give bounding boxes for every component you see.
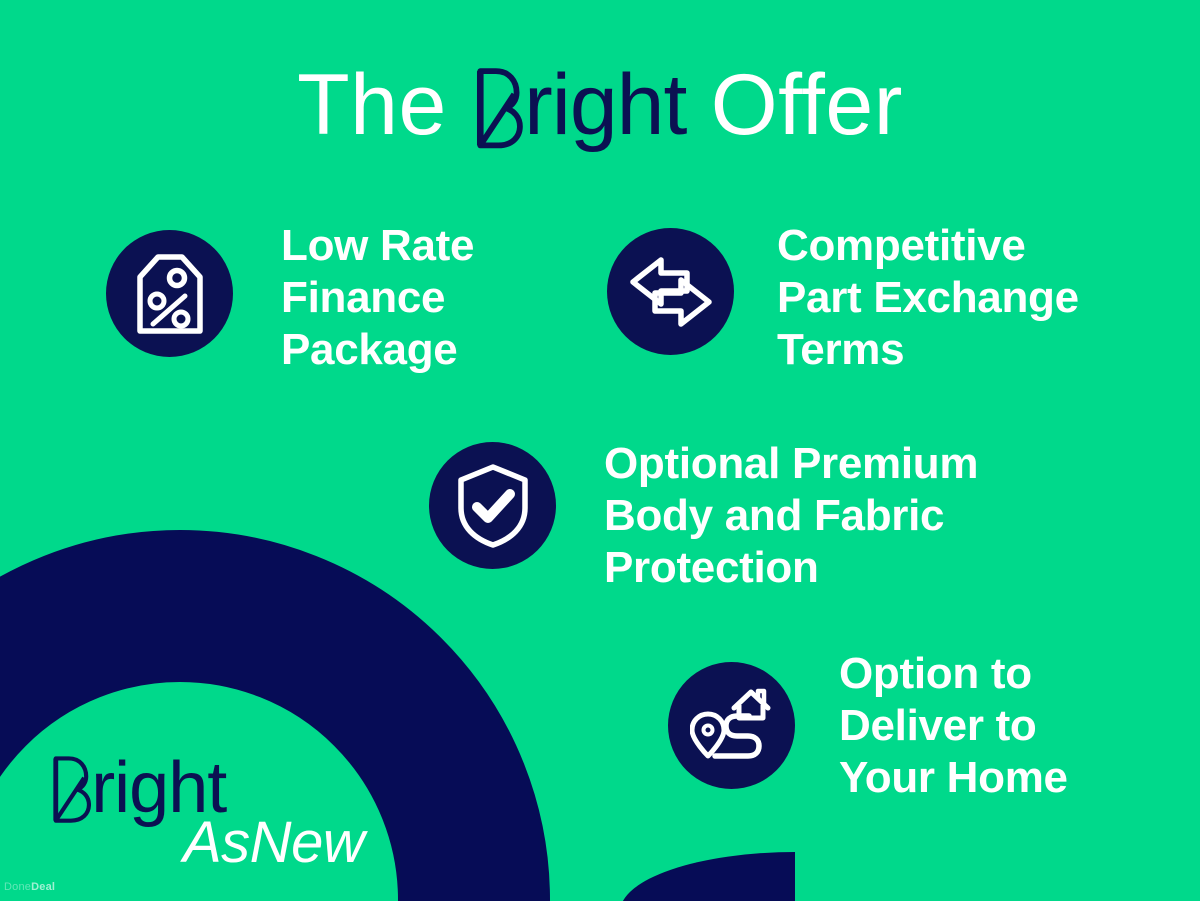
bright-b-logo-icon [471,67,523,150]
donedeal-watermark: DoneDeal [4,882,55,893]
feature-label: Option to Deliver to Your Home [839,648,1068,804]
watermark-done: Done [4,881,31,893]
feature-label: Low Rate Finance Package [281,220,474,376]
title-brand-text: right [524,57,686,153]
page-title: The right Offer [0,62,1200,149]
logo-tagline: AsNew [183,814,364,872]
shield-check-icon [429,442,556,569]
title-prefix: The [297,57,471,153]
title-brand: right [471,57,686,153]
title-suffix: Offer [686,57,903,153]
feature-label: Optional Premium Body and Fabric Protect… [604,438,978,594]
map-pin-route-home-icon [668,662,795,789]
exchange-arrows-icon [607,228,734,355]
decorative-wedge-shape [620,852,795,901]
brand-logo[interactable]: right AsNew [48,752,378,882]
feature-label: Competitive Part Exchange Terms [777,220,1079,376]
offer-slide: The right Offer Low Rate Finance Package… [0,0,1200,901]
feature-item-part-exchange[interactable]: Competitive Part Exchange Terms [607,228,1079,376]
price-tag-percent-icon [106,230,233,357]
feature-item-low-rate-finance[interactable]: Low Rate Finance Package [106,230,474,376]
feature-item-body-fabric-protection[interactable]: Optional Premium Body and Fabric Protect… [429,442,978,594]
feature-item-home-delivery[interactable]: Option to Deliver to Your Home [668,662,1068,804]
bright-b-logo-icon [48,755,91,824]
watermark-deal: Deal [31,881,55,893]
